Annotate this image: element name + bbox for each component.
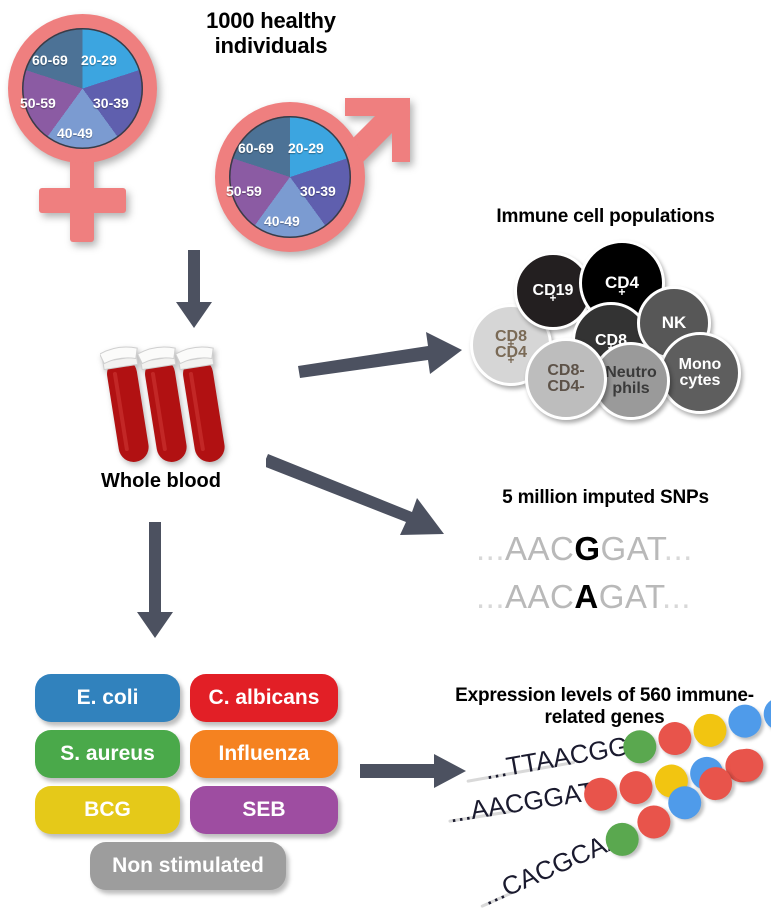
age-label-60-69-male: 60-69 [238,140,274,156]
stimulus-label: SEB [242,798,285,822]
arrow-blood-to-snps [266,450,451,545]
cell-monocytes[interactable]: Mono cytes [659,332,741,414]
cell-cd8neg-cd4neg[interactable]: CD8- CD4- [525,338,607,420]
immune-populations-title: Immune cell populations [440,206,771,228]
cell-label-line2: CD4- [547,379,584,395]
stimulus-label: E. coli [77,686,139,710]
cell-label-line2: cytes [679,373,722,389]
cell-label-line2: CD4+ [495,345,527,361]
snp-prefix: AAC [505,578,574,615]
arrow-blood-to-stimuli [133,522,177,640]
gene-expression-strands: ...TTAACGG ...AACGGAT ...CACGCAA [455,730,771,922]
cohort-title: 1000 healthy individuals [176,8,366,59]
age-label-50-59-male: 50-59 [226,183,262,199]
arrow-stimuli-to-expression [360,752,470,792]
snp-suffix: GAT [599,578,662,615]
snp-allele: A [574,578,598,615]
stimulus-non-stimulated[interactable]: Non stimulated [90,842,286,890]
expression-bead [617,769,655,807]
cell-label-line1: Neutro [605,365,657,381]
stimulus-s-aureus[interactable]: S. aureus [35,730,180,778]
cell-label-line1: CD8+ [495,329,527,345]
snp-prefix: AAC [505,530,574,567]
stimulus-label: C. albicans [209,686,320,710]
stimulus-influenza[interactable]: Influenza [190,730,338,778]
male-gender-symbol: 60-69 20-29 50-59 30-39 40-49 [205,78,420,258]
female-symbol-crossbar [39,188,126,213]
stimulus-c-albicans[interactable]: C. albicans [190,674,338,722]
stimulus-bcg[interactable]: BCG [35,786,180,834]
whole-blood-tubes [100,340,230,475]
immune-cell-cluster: CD8+ CD4+ CD19+ CD4+ CD8+ NK Mono cytes [440,238,771,423]
stimulus-seb[interactable]: SEB [190,786,338,834]
snp-trail: ... [664,530,693,567]
stimulus-label: Non stimulated [112,854,264,878]
age-label-30-39-male: 30-39 [300,183,336,199]
age-label-60-69: 60-69 [32,52,68,68]
cell-label-line2: phils [605,381,657,397]
snp-row-1: ...AACGGAT... [476,530,693,568]
age-label-50-59: 50-59 [20,95,56,111]
strand-sequence: ...TTAACGG [482,730,631,786]
age-label-40-49-male: 40-49 [264,213,300,229]
snp-row-2: ...AACAGAT... [476,578,691,616]
stimulus-label: Influenza [218,742,309,766]
snps-title: 5 million imputed SNPs [440,487,771,509]
cell-label-line1: Mono [679,357,722,373]
snp-suffix: GAT [601,530,664,567]
age-label-40-49: 40-49 [57,125,93,141]
snp-lead: ... [476,578,505,615]
snp-lead: ... [476,530,505,567]
cell-label-line1: CD8- [547,363,584,379]
strand-sequence: ...AACGGAT [447,776,597,830]
stimulus-label: BCG [84,798,131,822]
cell-label: NK [662,314,687,331]
age-label-20-29-male: 20-29 [288,140,324,156]
age-label-30-39: 30-39 [93,95,129,111]
whole-blood-label: Whole blood [66,470,256,493]
snp-trail: ... [662,578,691,615]
stimulus-e-coli[interactable]: E. coli [35,674,180,722]
stimulation-panel: E. coli C. albicans S. aureus Influenza … [35,674,345,894]
snp-sequence-block: ...AACGGAT... ...AACAGAT... [476,530,771,630]
age-label-20-29: 20-29 [81,52,117,68]
female-gender-symbol: 60-69 20-29 50-59 30-39 40-49 [8,14,178,249]
snp-allele: G [574,530,600,567]
arrow-cohort-to-blood [172,250,216,330]
figure-canvas: 1000 healthy individuals 60-69 20-29 50-… [0,0,771,922]
stimulus-label: S. aureus [60,742,155,766]
